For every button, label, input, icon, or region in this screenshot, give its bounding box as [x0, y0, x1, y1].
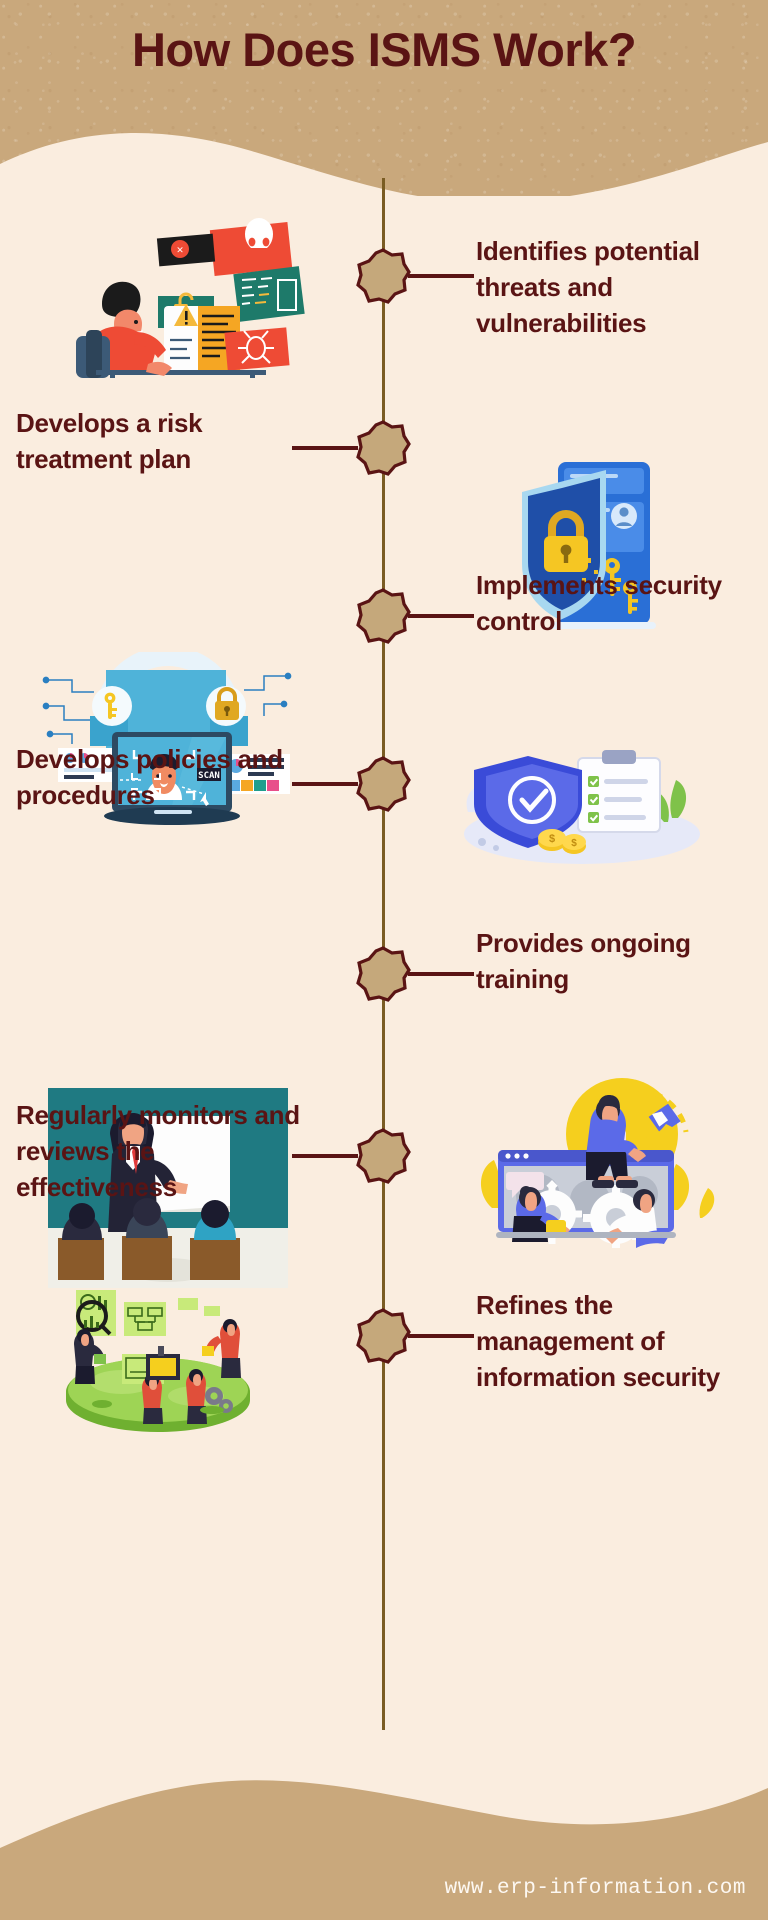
step-label-4: Develops policies and procedures [16, 742, 316, 814]
timeline-node-5[interactable] [355, 946, 411, 1002]
connector-line-3 [408, 614, 474, 618]
timeline-node-6[interactable] [355, 1128, 411, 1184]
timeline-node-2[interactable] [355, 420, 411, 476]
page-title: How Does ISMS Work? [0, 0, 768, 77]
connector-line-1 [408, 274, 474, 278]
illustration-team-gears-monitoring [440, 1068, 730, 1248]
illustration-team-analytics-landscape [62, 1272, 252, 1432]
illustration-hacker-at-computer-threats: ✕ [40, 218, 305, 378]
step-label-3: Implements security control [476, 568, 766, 640]
connector-line-5 [408, 972, 474, 976]
step-label-6: Regularly monitors and reviews the effec… [16, 1098, 316, 1206]
step-label-5: Provides ongoing training [476, 926, 766, 998]
website-url[interactable]: www.erp-information.com [445, 1877, 746, 1900]
footer-url-wrap: www.erp-information.com [0, 1780, 768, 1920]
timeline-node-7[interactable] [355, 1308, 411, 1364]
timeline-node-3[interactable] [355, 588, 411, 644]
step-label-1: Identifies potential threats and vulnera… [476, 234, 766, 342]
step-label-2: Develops a risk treatment plan [16, 406, 312, 478]
step-label-7: Refines the management of information se… [476, 1288, 766, 1396]
infographic-page: How Does ISMS Work? ✕ [0, 0, 768, 1920]
svg-text:✕: ✕ [176, 245, 184, 255]
connector-line-7 [408, 1334, 474, 1338]
timeline-node-1[interactable] [355, 248, 411, 304]
svg-text:$: $ [571, 838, 577, 849]
timeline-node-4[interactable] [355, 756, 411, 812]
illustration-shield-checkmark-clipboard: $ $ [452, 738, 710, 868]
svg-text:$: $ [549, 833, 555, 845]
